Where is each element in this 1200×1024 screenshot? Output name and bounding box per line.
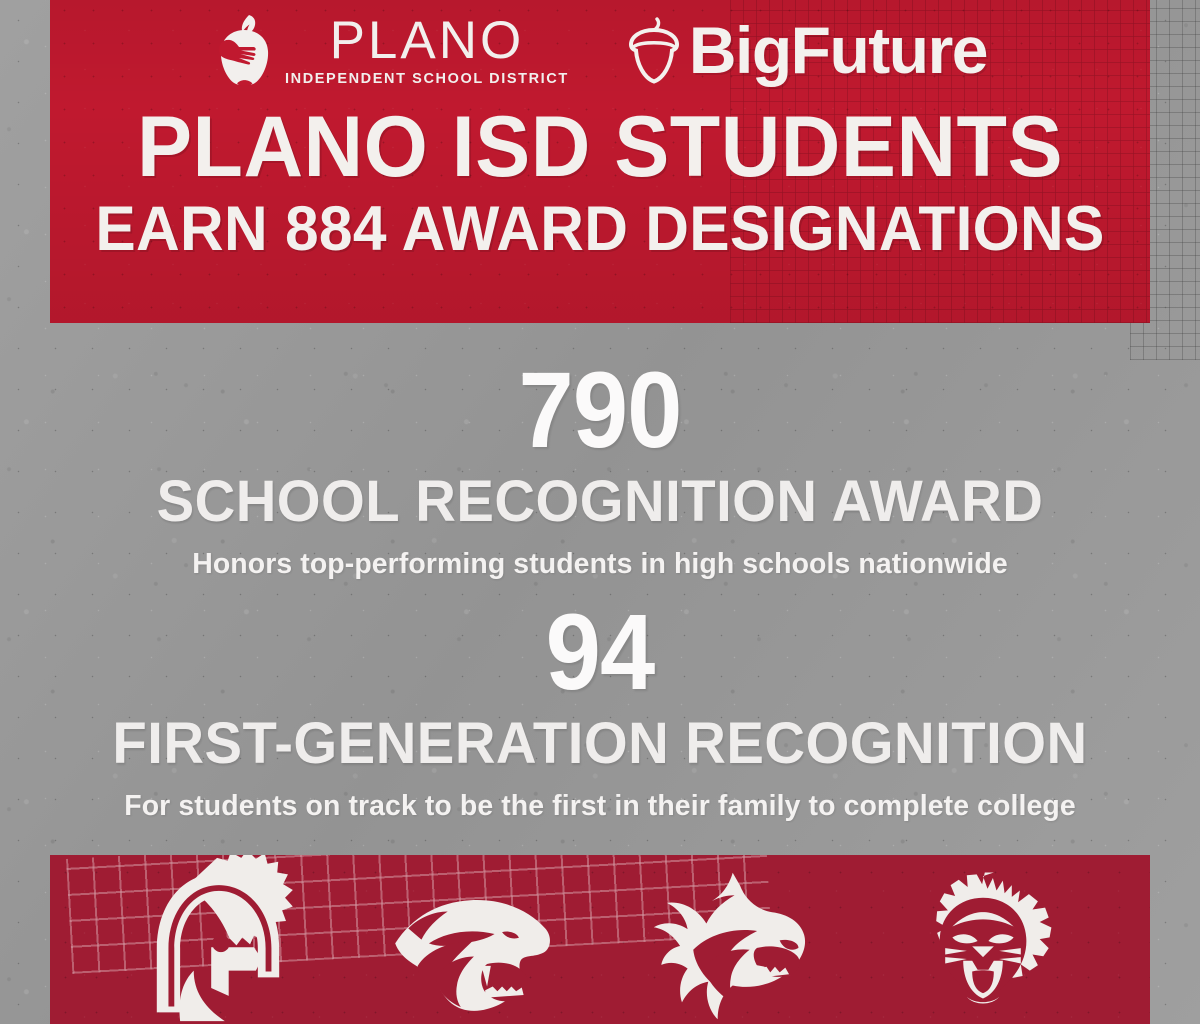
plano-tagline: INDEPENDENT SCHOOL DISTRICT	[285, 72, 569, 87]
mascot-label-2: Panther head mascot	[0, 0, 1, 1]
bigfuture-wordmark: BigFuture	[689, 17, 987, 83]
stat-number: 94	[48, 598, 1152, 706]
mascot-label-4: Wildcat head front-facing mascot	[0, 0, 1, 1]
headline-line-1: PLANO ISD STUDENTS	[72, 106, 1128, 189]
plano-isd-logo: PLANO INDEPENDENT SCHOOL DISTRICT	[213, 13, 569, 87]
wildcat-head-front-icon	[893, 864, 1073, 1024]
plano-wordmark: PLANO	[330, 14, 525, 67]
stat-title: SCHOOL RECOGNITION AWARD	[18, 472, 1182, 533]
spartan-helmet-icon	[128, 864, 308, 1024]
stat-number: 790	[48, 356, 1152, 464]
stat-description: Honors top-performing students in high s…	[12, 547, 1188, 582]
mascot-label-1: Spartan helmet mascot	[0, 0, 1, 1]
acorn-icon	[627, 16, 681, 84]
mascot-row	[50, 855, 1150, 1024]
wildcat-head-profile-icon	[638, 864, 818, 1024]
headline: PLANO ISD STUDENTS EARN 884 AWARD DESIGN…	[50, 106, 1150, 261]
stat-block-school-recognition: 790 SCHOOL RECOGNITION AWARD Honors top-…	[0, 356, 1200, 582]
plano-wordmark-group: PLANO INDEPENDENT SCHOOL DISTRICT	[285, 14, 569, 87]
headline-line-2: EARN 884 AWARD DESIGNATIONS	[72, 197, 1128, 261]
stat-block-first-generation: 94 FIRST-GENERATION RECOGNITION For stud…	[0, 598, 1200, 824]
stat-title: FIRST-GENERATION RECOGNITION	[18, 714, 1182, 775]
header-band: PLANO INDEPENDENT SCHOOL DISTRICT	[50, 0, 1150, 323]
bigfuture-logo: BigFuture	[627, 16, 987, 84]
infographic-poster: PLANO INDEPENDENT SCHOOL DISTRICT	[0, 0, 1200, 1024]
stat-description: For students on track to be the first in…	[12, 789, 1188, 824]
mascot-label-3: Wildcat head profile mascot	[0, 0, 1, 1]
logo-row: PLANO INDEPENDENT SCHOOL DISTRICT	[50, 4, 1150, 96]
mascot-band	[50, 855, 1150, 1024]
panther-head-icon	[383, 864, 563, 1024]
apple-with-hand-icon	[213, 13, 275, 87]
stats-section: 790 SCHOOL RECOGNITION AWARD Honors top-…	[0, 334, 1200, 850]
